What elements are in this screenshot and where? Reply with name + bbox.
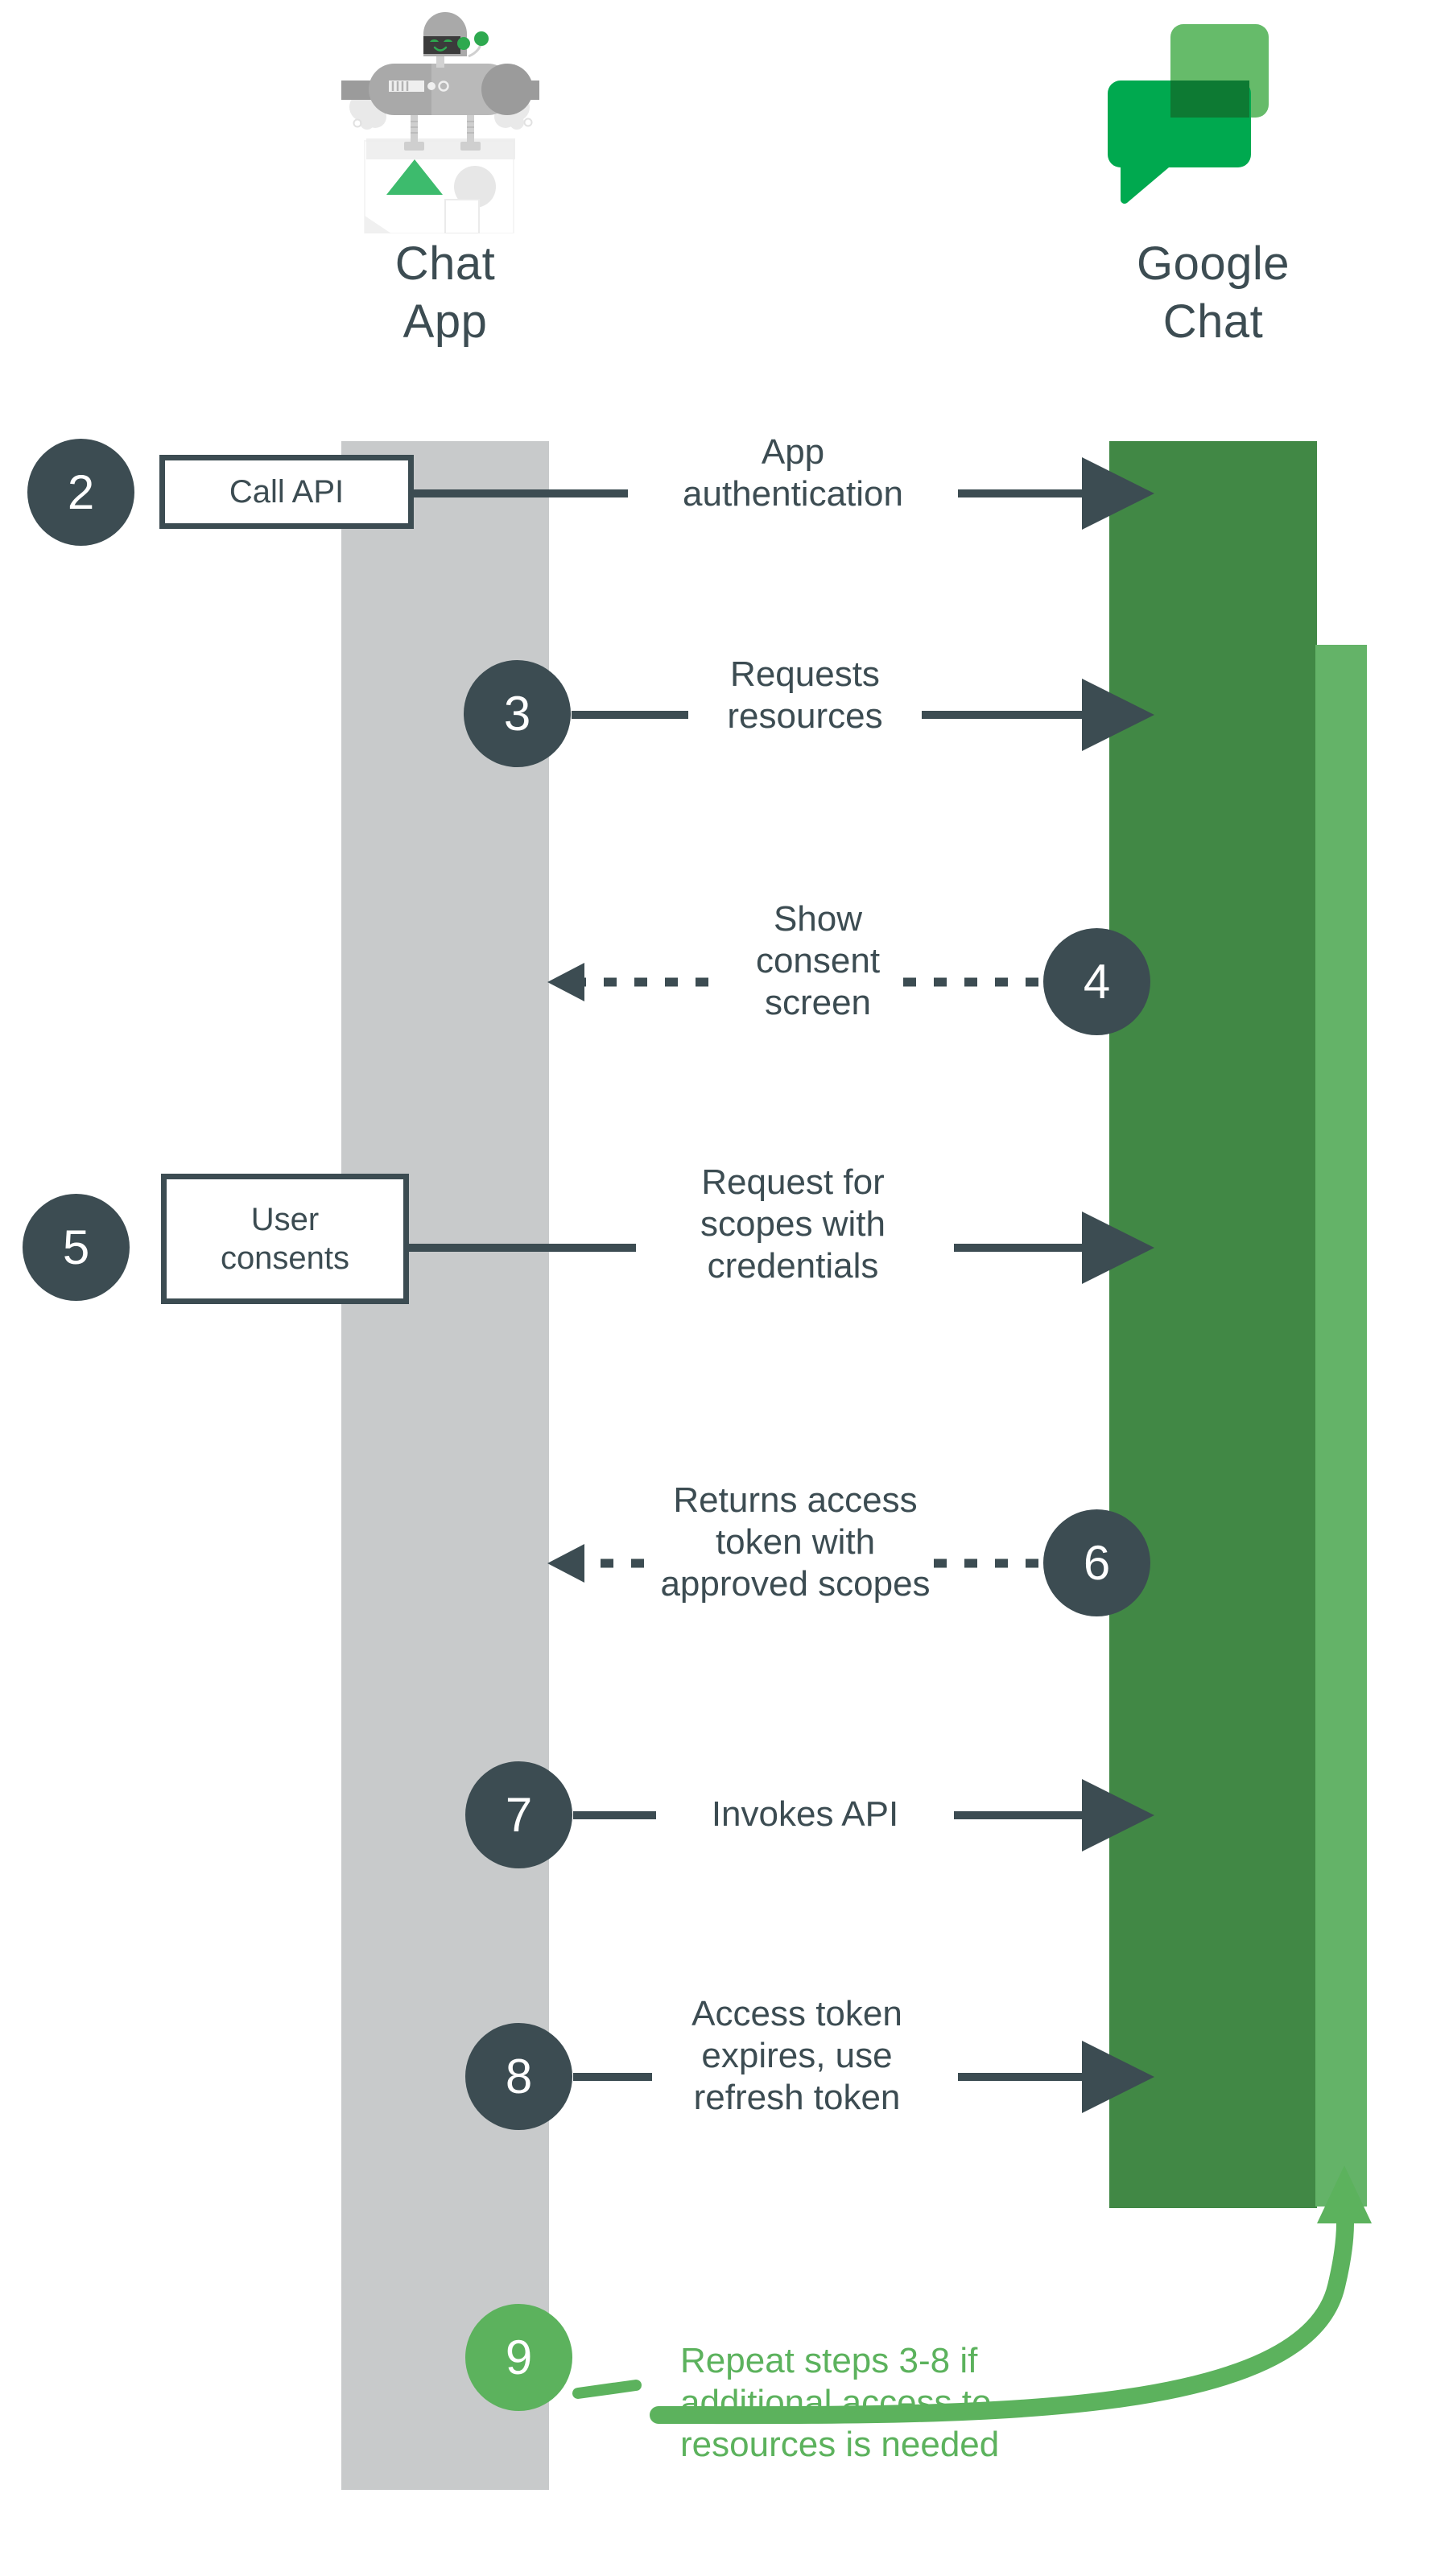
message-label-show-consent-screen-line3: screen — [697, 982, 939, 1024]
message-label-app-authentication-line2: authentication — [620, 473, 966, 515]
step-badge-8-number: 8 — [506, 2053, 532, 2101]
message-label-returns-access-token: Returns access token with approved scope… — [626, 1480, 964, 1605]
message-label-request-scopes-credentials: Request for scopes with credentials — [628, 1162, 958, 1287]
message-label-invokes-api: Invokes API — [652, 1794, 958, 1835]
lifeline-google-chat-secondary — [1315, 645, 1367, 2207]
participant-label-google-chat-line1: Google — [1012, 237, 1414, 291]
message-label-invokes-api-line1: Invokes API — [652, 1794, 958, 1835]
message-label-show-consent-screen: Show consent screen — [697, 898, 939, 1024]
step-badge-9-number: 9 — [506, 2334, 532, 2382]
step-badge-7-number: 7 — [506, 1791, 532, 1839]
participant-label-chat-app-line2: App — [244, 295, 646, 349]
step-badge-6: 6 — [1043, 1509, 1150, 1616]
message-label-access-token-expires-line3: refresh token — [636, 2077, 958, 2119]
step-badge-4: 4 — [1043, 928, 1150, 1035]
message-label-request-scopes-credentials-line1: Request for — [628, 1162, 958, 1203]
message-label-app-authentication-line1: App — [620, 431, 966, 473]
action-box-user-consents: User consents — [161, 1174, 409, 1304]
message-label-returns-access-token-line1: Returns access — [626, 1480, 964, 1521]
action-box-user-consents-line1: User — [251, 1200, 319, 1239]
message-label-request-scopes-credentials-line3: credentials — [628, 1245, 958, 1287]
participant-label-google-chat: Google Chat — [1012, 237, 1414, 349]
message-label-requests-resources-line2: resources — [676, 696, 934, 737]
participant-label-chat-app-line1: Chat — [244, 237, 646, 291]
message-label-access-token-expires-line1: Access token — [636, 1993, 958, 2035]
step-badge-7: 7 — [465, 1761, 572, 1868]
message-label-access-token-expires-line2: expires, use — [636, 2035, 958, 2077]
action-box-call-api-label: Call API — [229, 473, 344, 511]
step-badge-9: 9 — [465, 2304, 572, 2411]
google-chat-logo-icon — [1100, 16, 1277, 209]
step-badge-3-number: 3 — [504, 690, 530, 738]
step-badge-5: 5 — [23, 1194, 130, 1301]
message-label-returns-access-token-line2: token with — [626, 1521, 964, 1563]
lifeline-google-chat — [1109, 441, 1317, 2208]
message-label-repeat-steps-line1: Repeat steps 3-8 if — [680, 2340, 1163, 2382]
action-box-call-api: Call API — [159, 455, 414, 529]
message-label-repeat-steps-line2: additional access to — [680, 2382, 1163, 2424]
step-badge-5-number: 5 — [63, 1224, 89, 1272]
step-badge-2: 2 — [27, 439, 134, 546]
message-label-repeat-steps: Repeat steps 3-8 if additional access to… — [680, 2340, 1163, 2466]
message-label-show-consent-screen-line1: Show — [697, 898, 939, 940]
sequence-diagram: Chat App Google Chat — [0, 0, 1449, 2576]
participant-label-google-chat-line2: Chat — [1012, 295, 1414, 349]
step-badge-2-number: 2 — [68, 469, 94, 517]
message-label-repeat-steps-line3: resources is needed — [680, 2424, 1163, 2466]
message-label-requests-resources: Requests resources — [676, 654, 934, 737]
message-label-app-authentication: App authentication — [620, 431, 966, 515]
participant-label-chat-app: Chat App — [244, 237, 646, 349]
step-badge-4-number: 4 — [1084, 958, 1110, 1006]
robot-icon — [314, 0, 539, 233]
message-label-access-token-expires: Access token expires, use refresh token — [636, 1993, 958, 2119]
message-label-request-scopes-credentials-line2: scopes with — [628, 1203, 958, 1245]
message-label-returns-access-token-line3: approved scopes — [626, 1563, 964, 1605]
step-badge-3: 3 — [464, 660, 571, 767]
message-label-requests-resources-line1: Requests — [676, 654, 934, 696]
step-badge-6-number: 6 — [1084, 1539, 1110, 1587]
step-badge-8: 8 — [465, 2023, 572, 2130]
action-box-user-consents-line2: consents — [221, 1239, 349, 1278]
message-label-show-consent-screen-line2: consent — [697, 940, 939, 982]
